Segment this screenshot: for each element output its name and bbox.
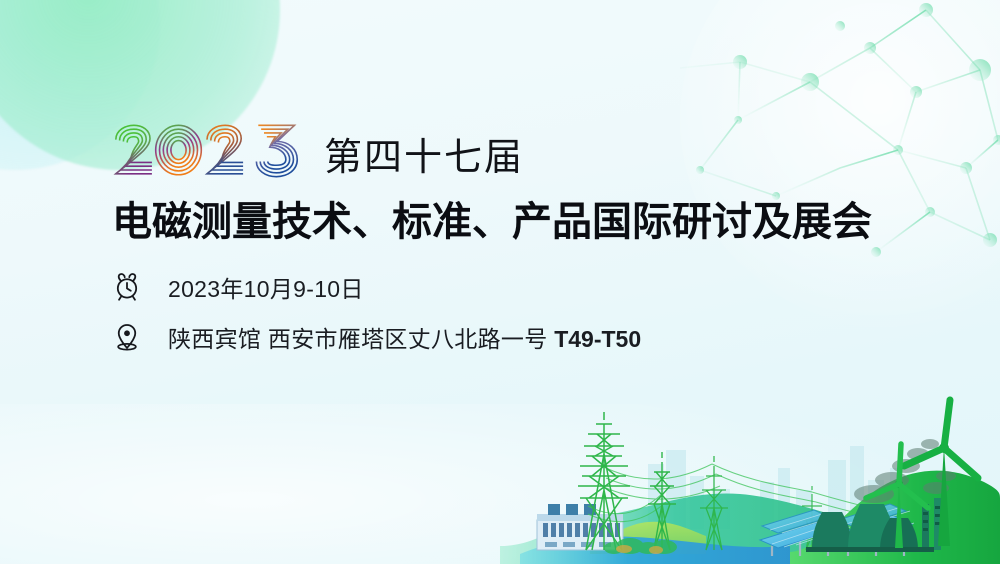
venue-text: 陕西宾馆 西安市雁塔区丈八北路一号 T49-T50 xyxy=(168,320,641,354)
energy-landscape-illustration xyxy=(0,394,1000,564)
venue-row: 陕西宾馆 西安市雁塔区丈八北路一号 T49-T50 xyxy=(112,320,952,354)
edition-label: 第四十七届 xyxy=(324,139,524,180)
page-title: 电磁测量技术、标准、产品国际研讨及展会 xyxy=(112,200,952,244)
year-2023-logo: 2023 xyxy=(112,122,302,180)
alarm-clock-icon xyxy=(112,272,142,302)
venue-booth-number: T49-T50 xyxy=(554,326,641,352)
venue-address: 陕西宾馆 西安市雁塔区丈八北路一号 xyxy=(168,326,554,352)
location-pin-icon xyxy=(112,322,142,352)
date-row: 2023年10月9-10日 xyxy=(112,270,952,304)
date-text: 2023年10月9-10日 xyxy=(168,270,364,304)
event-poster: 2023 xyxy=(0,0,1000,564)
headline-row: 2023 xyxy=(112,118,952,180)
poster-content: 2023 xyxy=(112,118,952,354)
